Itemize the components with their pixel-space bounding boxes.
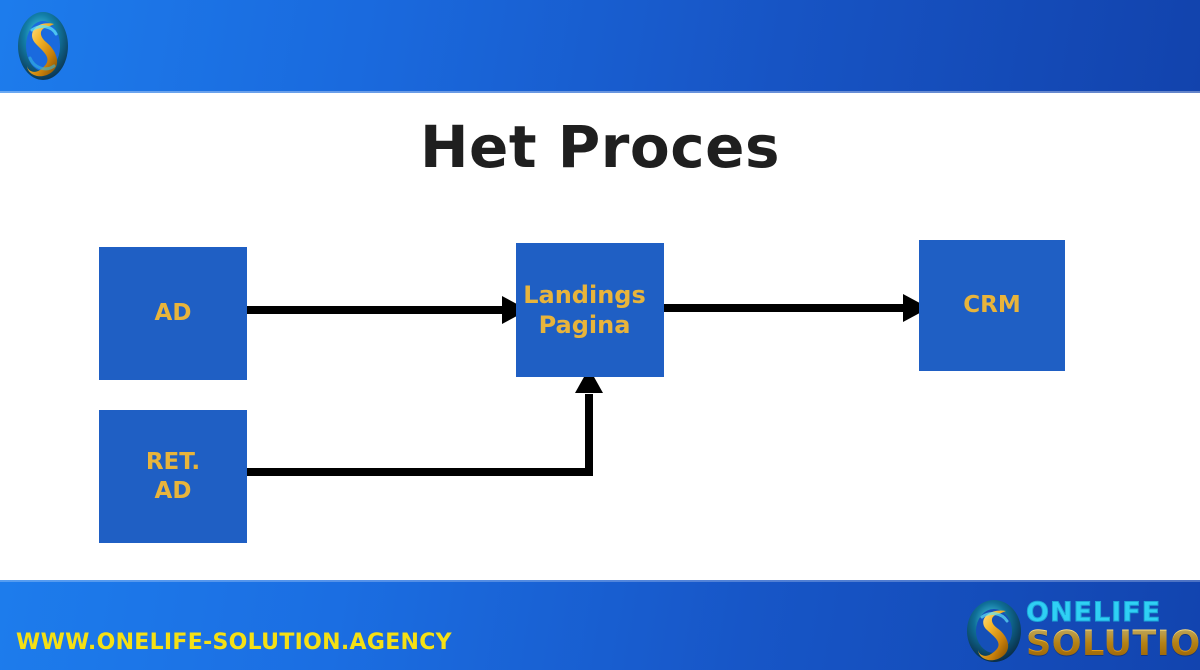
connector-landing-to-crm [664, 294, 929, 322]
node-ret-ad-label: RET. AD [146, 448, 200, 506]
onelife-s-emblem-icon [962, 598, 1026, 664]
footer-wordmark-solution: SOLUTION [1026, 627, 1200, 662]
footer-wordmark: ONELIFE SOLUTION [1026, 599, 1194, 663]
slide-canvas: Het Proces AD RET. [0, 0, 1200, 670]
node-ret-ad-label-line1: RET. [146, 449, 200, 475]
footer-website-url[interactable]: WWW.ONELIFE-SOLUTION.AGENCY [16, 630, 452, 655]
header-bar [0, 0, 1200, 93]
node-landing-page-label-line2: Pagina [539, 311, 631, 339]
footer-wordmark-onelife: ONELIFE [1026, 599, 1161, 626]
node-crm[interactable]: CRM [919, 240, 1065, 371]
node-landing-page[interactable]: Landings Pagina [516, 243, 664, 377]
footer-logo: ONELIFE SOLUTION [962, 596, 1194, 666]
node-ad-label: AD [155, 299, 192, 328]
process-flow-diagram: AD RET. AD Landings Pagina CRM [0, 93, 1200, 580]
node-ret-ad-label-line2: AD [155, 478, 192, 504]
node-landing-page-label: Landings Pagina [505, 280, 664, 340]
node-landing-page-label-line1: Landings [523, 281, 646, 309]
connector-ad-to-landing [246, 296, 528, 324]
node-ad[interactable]: AD [99, 247, 247, 380]
onelife-s-emblem-icon [14, 8, 72, 84]
node-crm-label: CRM [963, 291, 1020, 320]
node-ret-ad[interactable]: RET. AD [99, 410, 247, 543]
connector-retad-to-landing [246, 368, 603, 472]
